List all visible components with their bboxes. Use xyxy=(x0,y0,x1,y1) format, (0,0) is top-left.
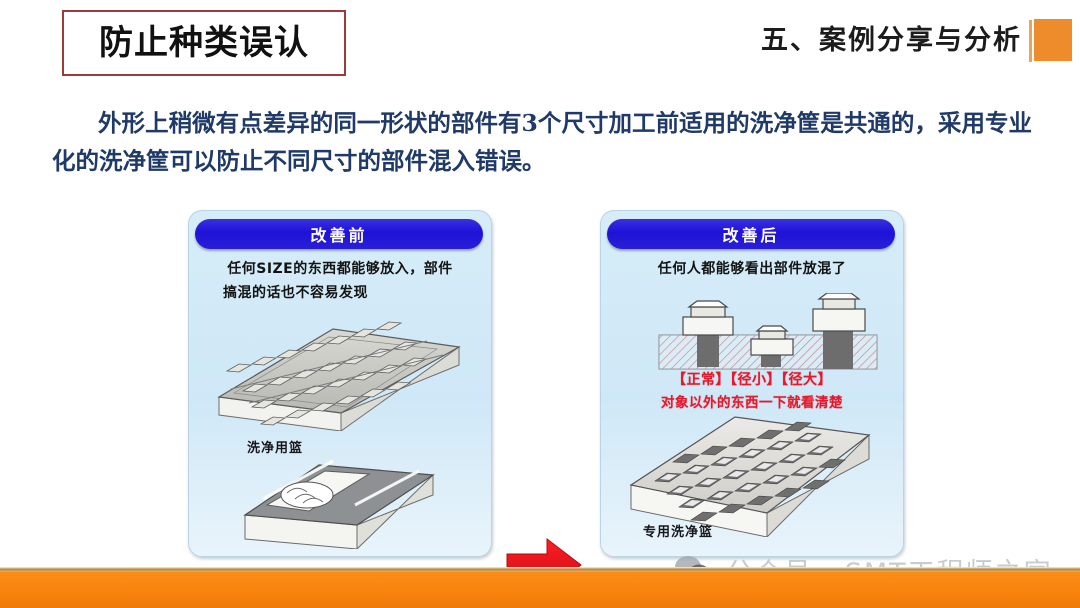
page-title: 防止种类误认 xyxy=(99,26,309,60)
slide-header: 防止种类误认 五、案例分享与分析 xyxy=(0,0,1080,86)
panel-before-note: 任何SIZE的东西都能够放入，部件 搞混的话也不容易发现 xyxy=(189,257,491,305)
after-red-sub: 对象以外的东西一下就看清楚 xyxy=(601,391,903,411)
paragraph-line1-b: 个尺寸加工前适用的洗净筐是共通 xyxy=(538,109,891,137)
after-red-labels: 【正常】【径小】【径大】 xyxy=(601,369,903,389)
section-title: 五、案例分享与分析 xyxy=(761,18,1022,57)
panel-before-note-line2: 搞混的话也不容易发现 xyxy=(189,281,491,305)
panel-after-header-label: 改善后 xyxy=(722,222,779,246)
parts-cross-section-illustration xyxy=(653,293,883,371)
after-caption: 专用洗净篮 xyxy=(643,521,713,540)
panel-before-header-label: 改善前 xyxy=(310,222,367,246)
panel-after-note-line1: 任何人都能够看出部件放混了 xyxy=(658,261,847,277)
page-title-box: 防止种类误认 xyxy=(62,10,346,76)
panel-after: 改善后 任何人都能够看出部件放混了 xyxy=(600,210,904,557)
panel-after-note: 任何人都能够看出部件放混了 xyxy=(601,257,903,281)
footer-bar xyxy=(0,572,1080,608)
panel-before-header: 改善前 xyxy=(195,219,483,249)
comparison-area: 改善前 任何SIZE的东西都能够放入，部件 搞混的话也不容易发现 xyxy=(0,200,1080,560)
slide-canvas: 防止种类误认 五、案例分享与分析 外形上稍微有点差异的同一形状的部件有3个尺寸加… xyxy=(0,0,1080,608)
section-accent-square xyxy=(1034,19,1072,61)
paragraph-line1-a: 外形上稍微有点差异的同一形状的部件有 xyxy=(98,109,522,137)
panel-after-header: 改善后 xyxy=(607,219,895,249)
paragraph-bold-number: 3 xyxy=(522,109,538,137)
panel-before: 改善前 任何SIZE的东西都能够放入，部件 搞混的话也不容易发现 xyxy=(188,210,492,557)
body-paragraph: 外形上稍微有点差异的同一形状的部件有3个尺寸加工前适用的洗净筐是共通的，采用专业… xyxy=(52,104,1032,180)
washing-basket-illustration xyxy=(201,319,479,431)
panel-before-note-line1: 任何SIZE的东西都能够放入，部件 xyxy=(227,261,453,277)
section-divider xyxy=(1029,20,1032,62)
basket-detail-illustration xyxy=(237,459,449,549)
before-caption: 洗净用篮 xyxy=(247,437,303,456)
dedicated-basket-illustration xyxy=(617,411,889,537)
